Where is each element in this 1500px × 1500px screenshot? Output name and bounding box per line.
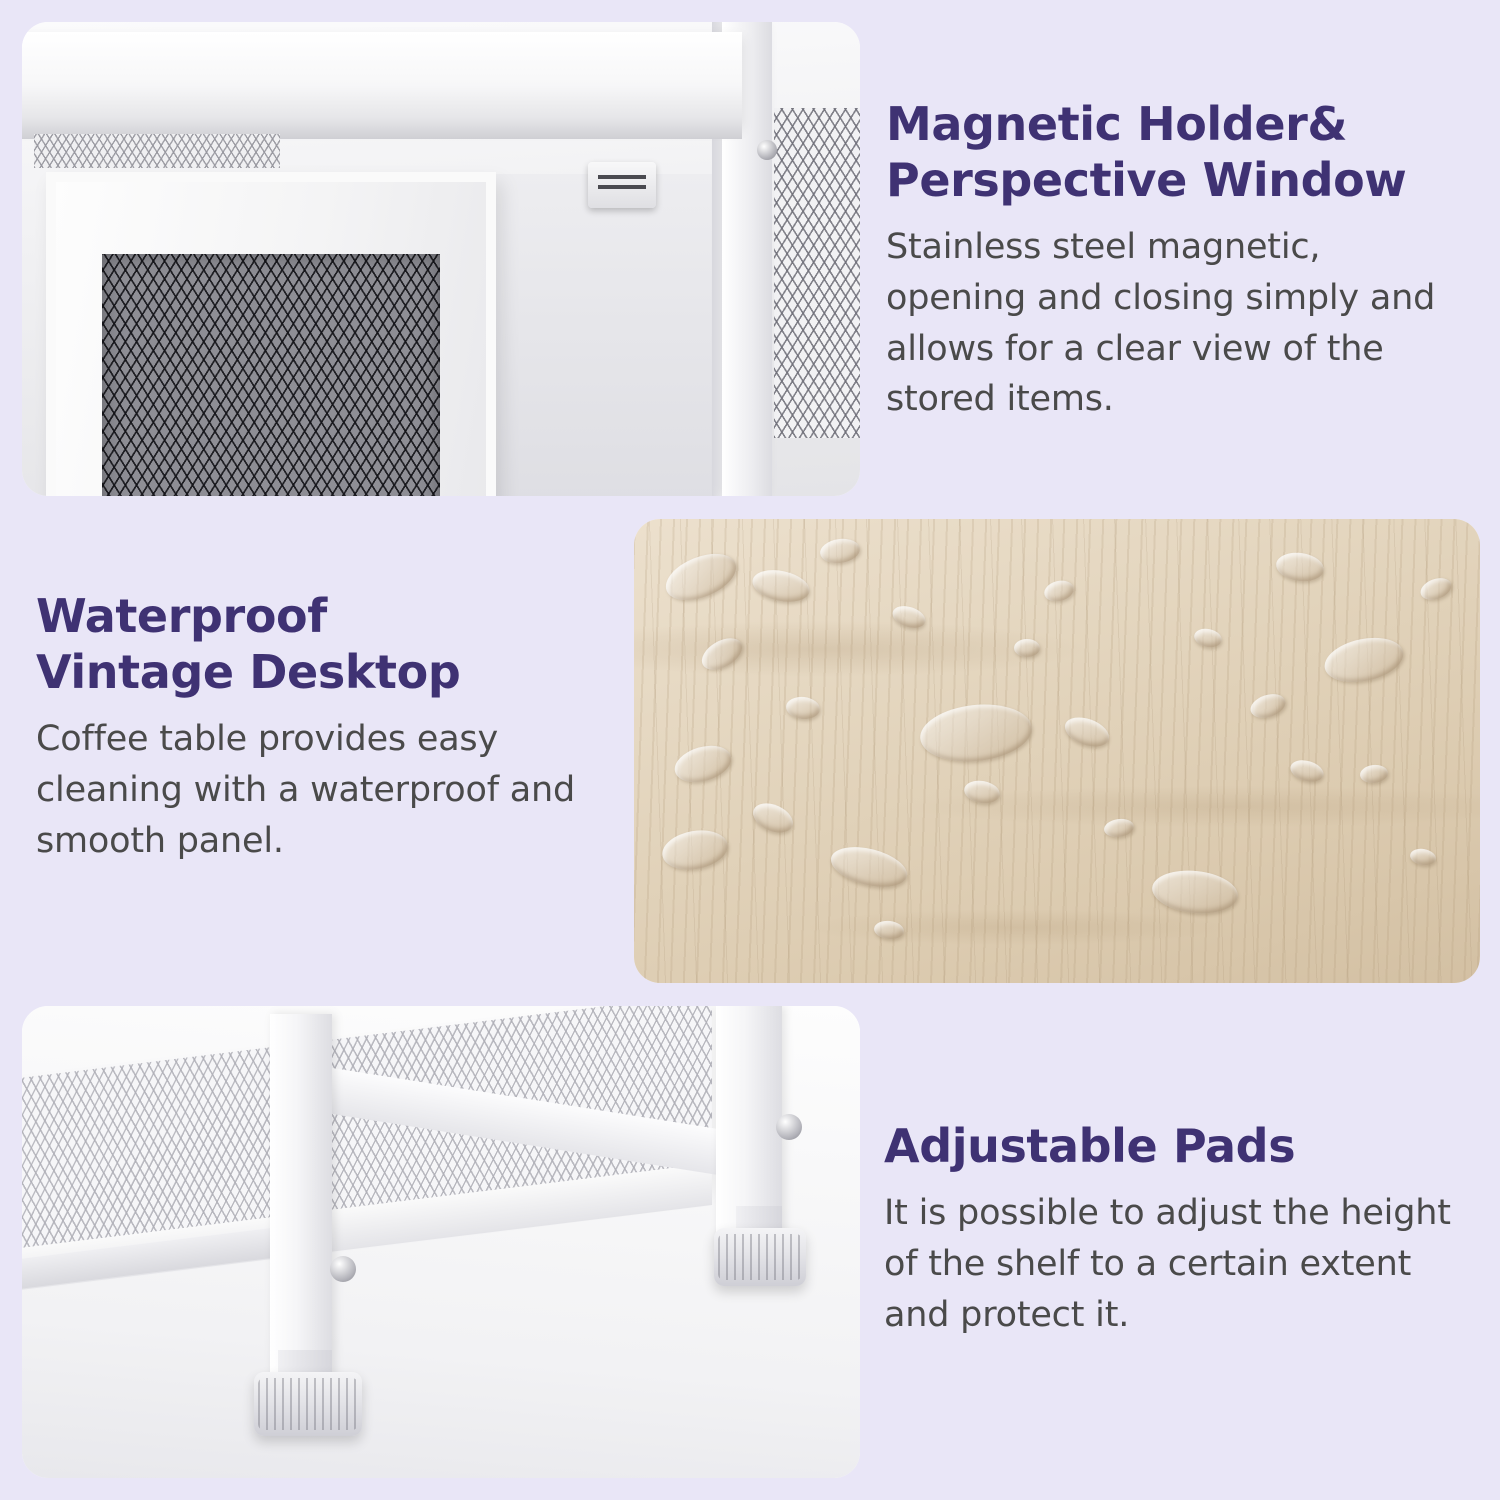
adjustable-pads-text: Adjustable Pads It is possible to adjust… — [884, 1118, 1470, 1340]
magnetic-holder-body: Stainless steel magnetic, opening and cl… — [886, 222, 1470, 425]
top-shelf-slab — [22, 32, 742, 124]
magnetic-holder-heading-line1: Magnetic Holder& — [886, 97, 1347, 151]
cabinet-interior-panel — [480, 174, 728, 496]
magnetic-holder-heading: Magnetic Holder& Perspective Window — [886, 96, 1470, 208]
magnetic-holder-heading-line2: Perspective Window — [886, 153, 1406, 207]
adjustable-pads-heading: Adjustable Pads — [884, 1118, 1470, 1174]
waterproof-desktop-body: Coffee table provides easy cleaning with… — [36, 714, 602, 866]
front-leg — [270, 1014, 332, 1382]
magnetic-holder-text: Magnetic Holder& Perspective Window Stai… — [886, 96, 1470, 425]
waterproof-desktop-heading-line2: Vintage Desktop — [36, 645, 460, 699]
waterproof-desktop-heading-line1: Waterproof — [36, 589, 327, 643]
screw-head — [757, 140, 777, 160]
waterproof-desktop-heading: Waterproof Vintage Desktop — [36, 588, 602, 700]
adjustable-pad — [254, 1372, 362, 1436]
screw-head — [330, 1256, 356, 1282]
screw-head — [776, 1114, 802, 1140]
waterproof-desktop-text: Waterproof Vintage Desktop Coffee table … — [36, 588, 602, 866]
cabinet-door — [46, 172, 496, 496]
side-mesh-panel — [774, 108, 860, 438]
water-droplet — [1014, 639, 1040, 657]
adjustable-pads-body: It is possible to adjust the height of t… — [884, 1188, 1470, 1340]
magnetic-catch — [588, 162, 656, 208]
adjustable-pad — [714, 1228, 806, 1286]
feature-collage: Magnetic Holder& Perspective Window Stai… — [0, 0, 1500, 1500]
waterproof-desktop-photo — [634, 519, 1480, 983]
door-mesh-insert — [102, 254, 440, 496]
adjustable-pads-heading-line1: Adjustable Pads — [884, 1119, 1295, 1173]
adjustable-pads-photo — [22, 1006, 860, 1478]
upper-mesh-strip — [34, 134, 280, 168]
magnetic-holder-photo — [22, 22, 860, 496]
